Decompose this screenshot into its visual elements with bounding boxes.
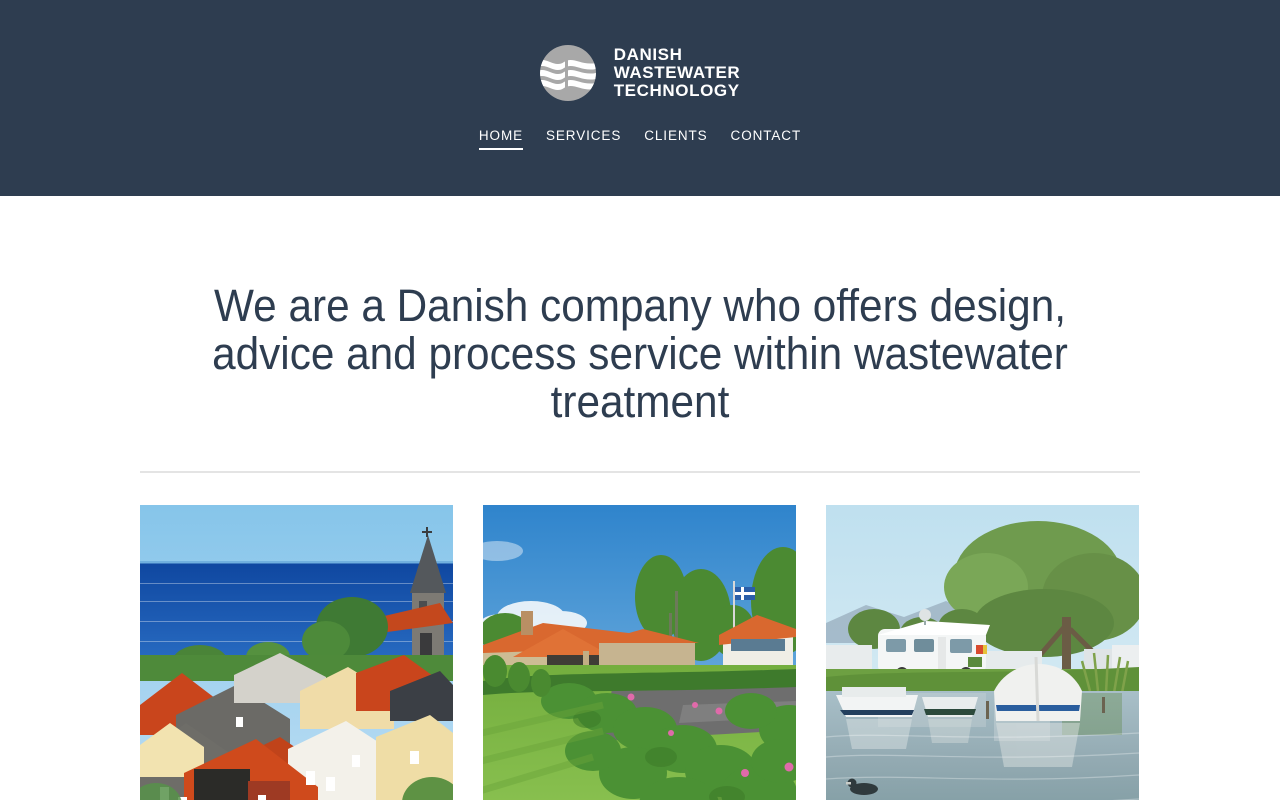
gallery-image-coastal-village[interactable]	[140, 505, 453, 800]
page-title: We are a Danish company who offers desig…	[170, 282, 1110, 426]
water-waves-circle-logo-icon	[540, 45, 596, 101]
gallery-image-treatment-facility[interactable]	[483, 505, 796, 800]
nav-item-clients[interactable]: CLIENTS	[644, 128, 707, 150]
logo-line-3: TECHNOLOGY	[614, 82, 741, 100]
site-logo-text: DANISH WASTEWATER TECHNOLOGY	[614, 46, 741, 100]
section-divider	[140, 471, 1140, 473]
nav-item-home[interactable]: HOME	[479, 128, 523, 150]
site-logo[interactable]: DANISH WASTEWATER TECHNOLOGY	[540, 45, 741, 101]
logo-line-2: WASTEWATER	[614, 64, 741, 82]
logo-line-1: DANISH	[614, 46, 741, 64]
site-header: DANISH WASTEWATER TECHNOLOGY HOME SERVIC…	[0, 0, 1280, 196]
gallery-image-campsite-lake[interactable]	[826, 505, 1139, 800]
nav-item-services[interactable]: SERVICES	[546, 128, 621, 150]
main-content: We are a Danish company who offers desig…	[0, 196, 1280, 800]
nav-item-contact[interactable]: CONTACT	[731, 128, 802, 150]
main-navigation: HOME SERVICES CLIENTS CONTACT	[479, 128, 801, 150]
image-gallery	[140, 505, 1140, 800]
